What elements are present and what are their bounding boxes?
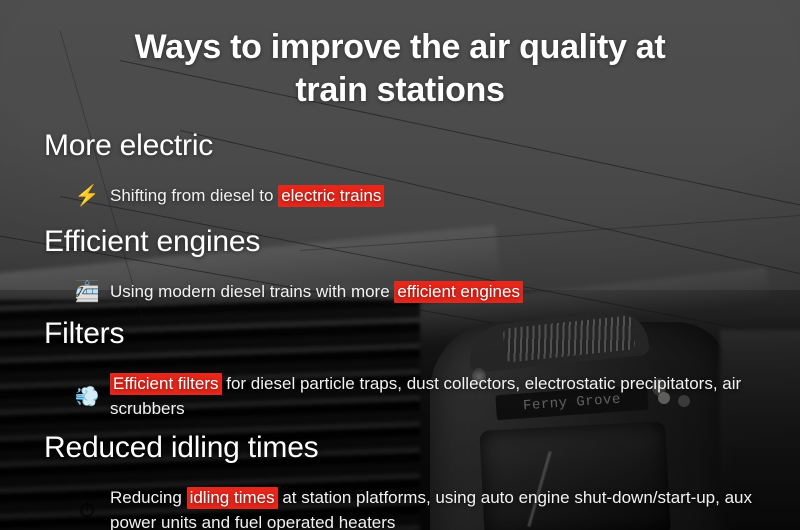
section-row: 🚈 Using modern diesel trains with more e… xyxy=(44,263,780,321)
section-filters: Filters 💨 Efficient filters for diesel p… xyxy=(44,316,780,438)
dust-cloud-icon: 💨 xyxy=(74,384,100,410)
section-heading: Efficient engines xyxy=(44,224,780,259)
section-body: Shifting from diesel to electric trains xyxy=(110,184,384,208)
stopwatch-icon: ⏱ xyxy=(74,498,100,524)
body-pre: Using modern diesel trains with more xyxy=(110,282,394,301)
section-body: Using modern diesel trains with more eff… xyxy=(110,280,523,304)
section-heading: Reduced idling times xyxy=(44,430,780,465)
section-more-electric: More electric ⚡ Shifting from diesel to … xyxy=(44,128,780,226)
light-rail-train-icon: 🚈 xyxy=(74,279,100,305)
highlight-text: efficient engines xyxy=(394,281,523,303)
highlight-text: Efficient filters xyxy=(110,373,222,395)
highlight-text: electric trains xyxy=(278,185,384,207)
body-pre: Shifting from diesel to xyxy=(110,186,278,205)
section-row: ⏱ Reducing idling times at station platf… xyxy=(44,469,780,530)
section-reduced-idling-times: Reduced idling times ⏱ Reducing idling t… xyxy=(44,430,780,530)
section-heading: Filters xyxy=(44,316,780,351)
infographic-poster: Ferny Grove Ways to improve the air qual… xyxy=(0,0,800,530)
section-body: Efficient filters for diesel particle tr… xyxy=(110,372,780,420)
section-body: Reducing idling times at station platfor… xyxy=(110,486,780,530)
section-efficient-engines: Efficient engines 🚈 Using modern diesel … xyxy=(44,224,780,322)
poster-content: Ways to improve the air quality at train… xyxy=(0,0,800,112)
body-pre: Reducing xyxy=(110,488,187,507)
lightning-bolt-icon: ⚡ xyxy=(74,183,100,209)
highlight-text: idling times xyxy=(187,487,278,509)
section-heading: More electric xyxy=(44,128,780,163)
page-title: Ways to improve the air quality at train… xyxy=(0,0,800,112)
section-row: ⚡ Shifting from diesel to electric train… xyxy=(44,167,780,225)
section-row: 💨 Efficient filters for diesel particle … xyxy=(44,355,780,437)
